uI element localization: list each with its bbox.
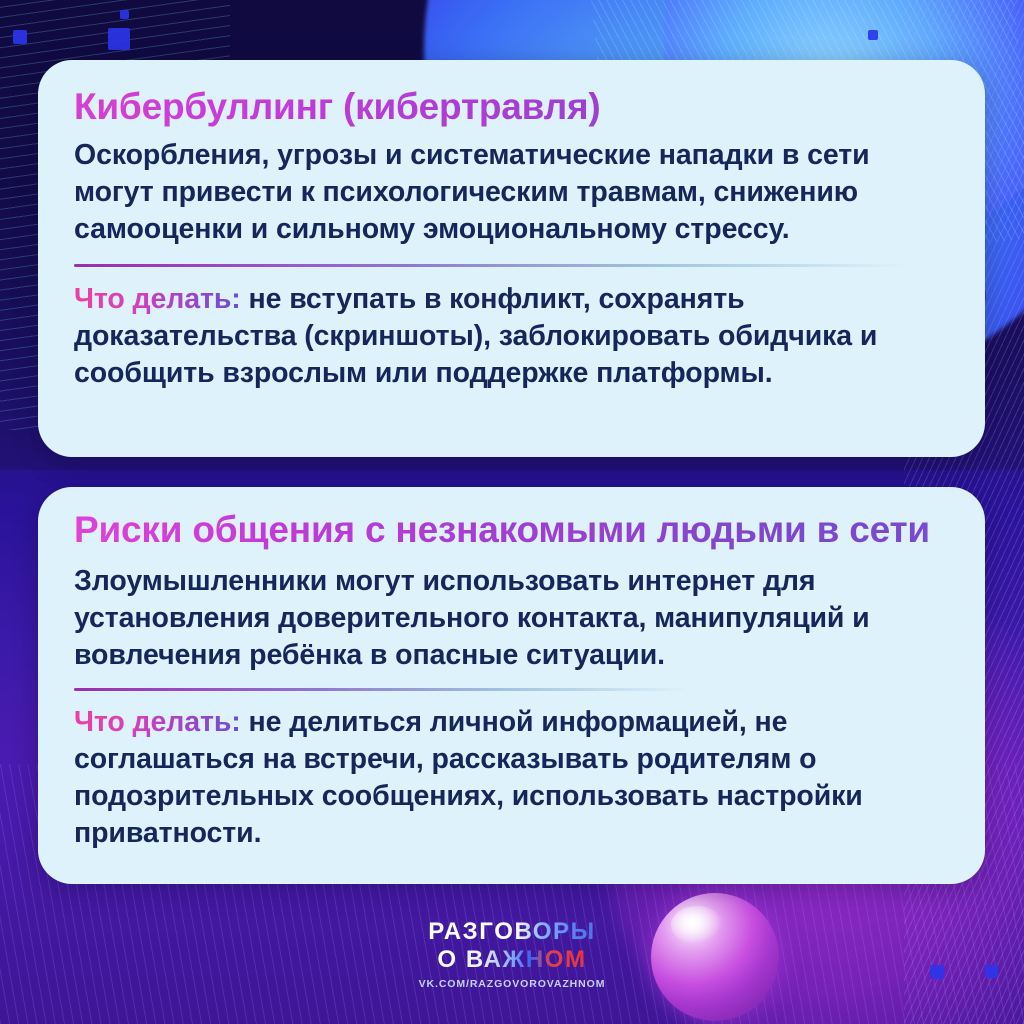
card-body-text: Злоумышленники могут использовать интерн… xyxy=(74,563,949,674)
poster-canvas: Кибербуллинг (кибертравля) Оскорбления, … xyxy=(0,0,1024,1024)
logo-url-text: VK.COM/RAZGOVOROVAZHNOM xyxy=(419,978,606,990)
action-label: Что делать: xyxy=(74,706,241,738)
card-title: Риски общения с незнакомыми людьми в сет… xyxy=(74,509,949,551)
card-action-line: Что делать: не вступать в конфликт, сохр… xyxy=(74,281,949,392)
logo-line-2: О ВАЖНОМ xyxy=(437,947,586,973)
info-card-strangers: Риски общения с незнакомыми людьми в сет… xyxy=(38,487,985,884)
brand-logo: РАЗГОВОРЫ О ВАЖНОМ VK.COM/RAZGOVOROVAZHN… xyxy=(0,920,1024,990)
card-title: Кибербуллинг (кибертравля) xyxy=(74,86,949,128)
square-confetti xyxy=(13,30,27,44)
card-divider xyxy=(74,264,905,267)
card-divider xyxy=(74,688,687,691)
square-confetti xyxy=(108,28,130,50)
card-action-line: Что делать: не делиться личной информаци… xyxy=(74,704,949,852)
action-label: Что делать: xyxy=(74,283,241,315)
square-confetti xyxy=(868,30,878,40)
info-card-cyberbullying: Кибербуллинг (кибертравля) Оскорбления, … xyxy=(38,60,985,457)
logo-line-1: РАЗГОВОРЫ xyxy=(428,920,596,944)
card-body-text: Оскорбления, угрозы и систематические на… xyxy=(74,137,949,248)
square-confetti xyxy=(120,10,129,19)
